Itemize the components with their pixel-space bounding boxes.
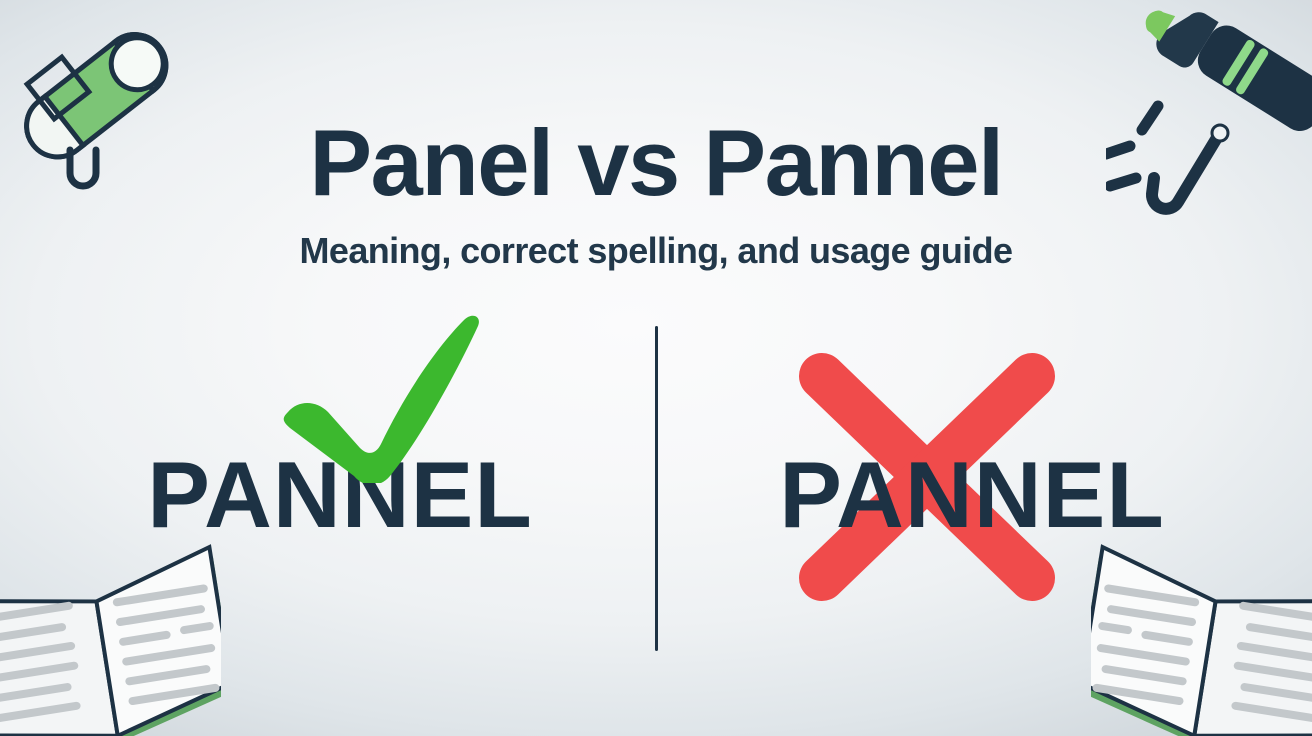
heading-block: Panel vs Pannel Meaning, correct spellin…	[0, 116, 1312, 270]
comparison-divider	[655, 326, 658, 651]
page-title: Panel vs Pannel	[0, 116, 1312, 210]
incorrect-spelling-column: PANNEL	[672, 300, 1272, 630]
correct-spelling-column: PANNEL	[40, 300, 640, 630]
page-subtitle: Meaning, correct spelling, and usage gui…	[0, 210, 1312, 270]
infographic-canvas: Panel vs Pannel Meaning, correct spellin…	[0, 0, 1312, 736]
incorrect-word: PANNEL	[672, 448, 1272, 542]
correct-word: PANNEL	[40, 448, 640, 542]
